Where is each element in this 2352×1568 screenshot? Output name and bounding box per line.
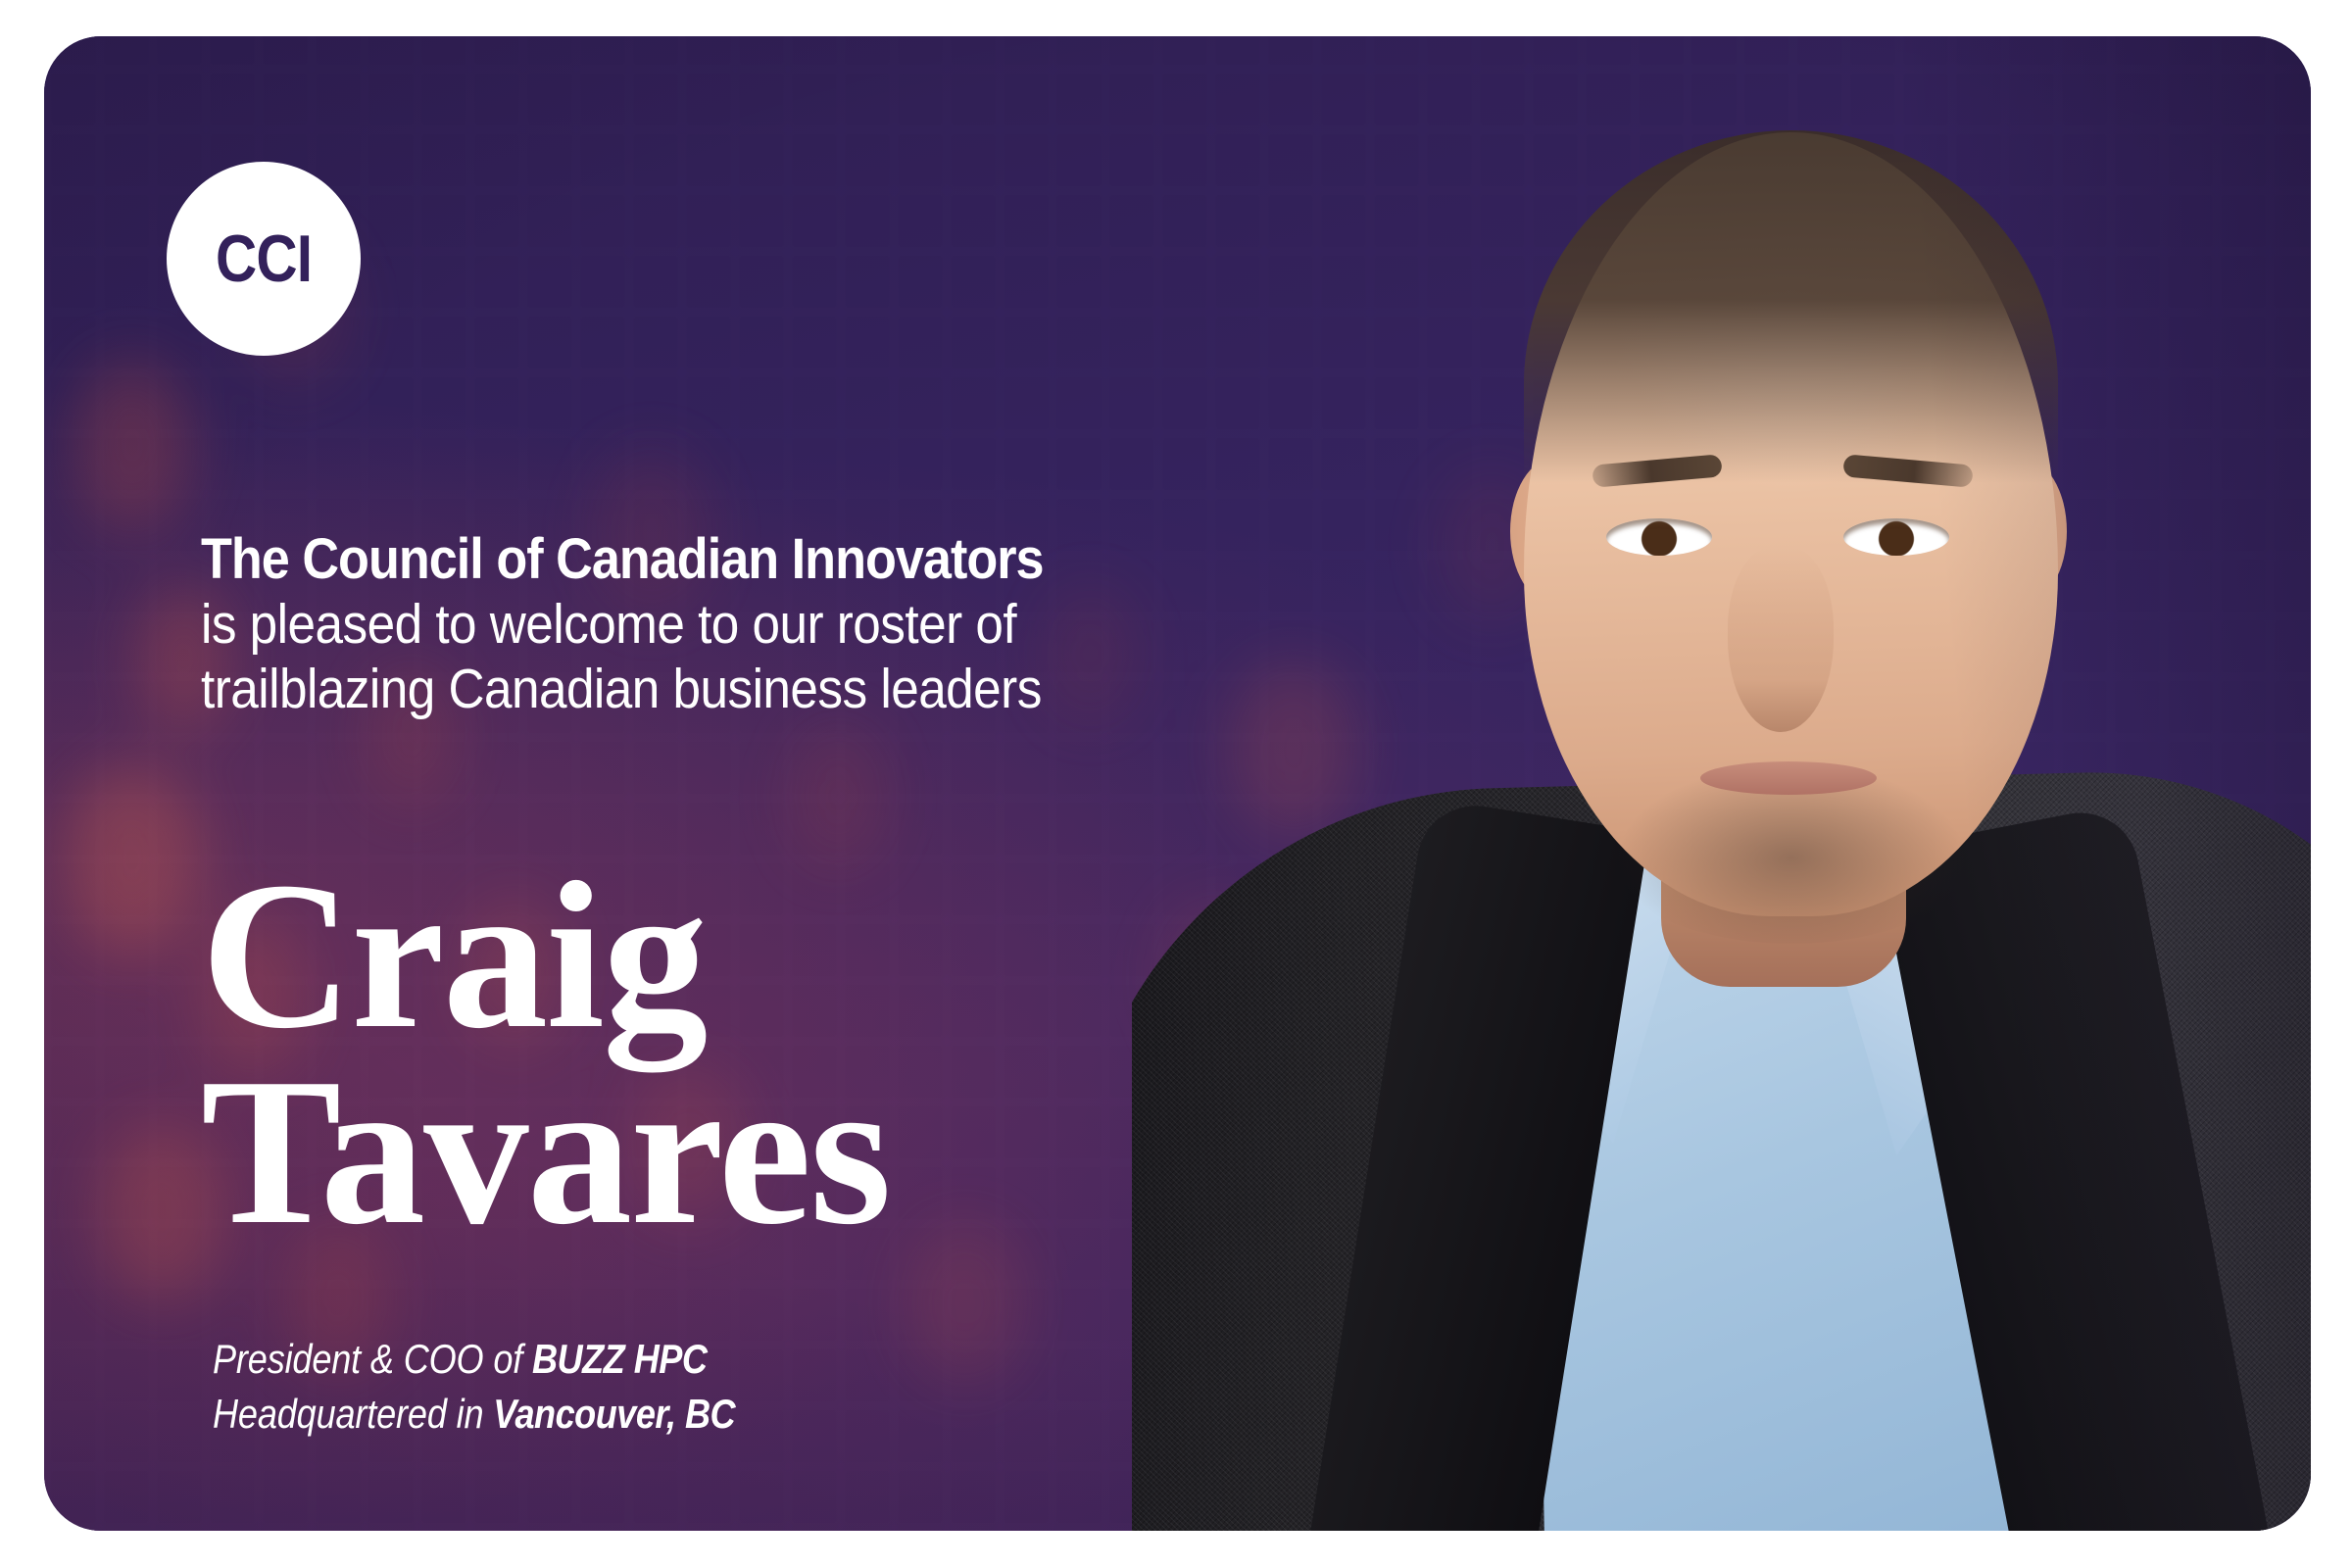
headline-line-3: trailblazing Canadian business leaders xyxy=(201,657,1224,721)
location-name: Vancouver, BC xyxy=(493,1391,735,1437)
role-line: President & COO of BUZZ HPC xyxy=(213,1332,735,1387)
hair xyxy=(1524,130,2058,483)
headline-block: The Council of Canadian Innovators is pl… xyxy=(201,526,1338,721)
announcement-card: CCI The Council of Canadian Innovators i… xyxy=(44,36,2311,1531)
cci-logo[interactable]: CCI xyxy=(167,162,361,356)
headline-line-1: The Council of Canadian Innovators xyxy=(201,526,1224,592)
honoree-details: President & COO of BUZZ HPC Headquartere… xyxy=(213,1332,820,1442)
portrait-photo xyxy=(1132,36,2311,1531)
beard-stubble xyxy=(1591,728,1992,944)
role-prefix: President & COO of xyxy=(213,1336,532,1382)
location-prefix: Headquartered in xyxy=(213,1391,493,1437)
mouth xyxy=(1700,761,1877,795)
headline-line-2: is pleased to welcome to our roster of xyxy=(201,592,1224,657)
location-line: Headquartered in Vancouver, BC xyxy=(213,1387,735,1442)
honoree-last-name: Tavares xyxy=(201,1053,890,1249)
cci-logo-text: CCI xyxy=(216,225,312,292)
honoree-first-name: Craig xyxy=(201,857,890,1053)
announcement-graphic: CCI The Council of Canadian Innovators i… xyxy=(0,0,2352,1568)
nose xyxy=(1728,546,1834,732)
honoree-name: Craig Tavares xyxy=(201,857,890,1249)
eye-left xyxy=(1606,518,1712,556)
company-name: BUZZ HPC xyxy=(532,1336,707,1382)
eye-right xyxy=(1843,518,1949,556)
